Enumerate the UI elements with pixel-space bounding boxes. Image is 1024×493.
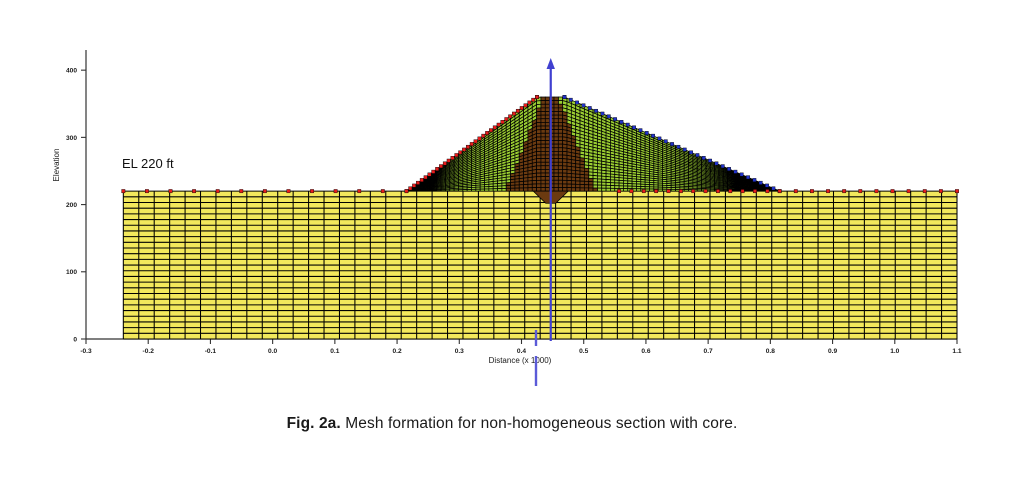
shell-mesh-cell bbox=[502, 188, 506, 191]
downstream-slope-node bbox=[658, 137, 661, 140]
ground-surface-node bbox=[192, 189, 195, 192]
upstream-slope-node bbox=[532, 98, 535, 101]
core-mesh-cell bbox=[541, 115, 545, 119]
core-mesh-cell bbox=[545, 122, 549, 126]
shell-mesh-cell bbox=[697, 190, 701, 191]
core-mesh-cell bbox=[558, 173, 562, 177]
core-mesh-cell bbox=[545, 159, 549, 163]
ground-surface-node bbox=[891, 189, 894, 192]
core-mesh-cell bbox=[554, 133, 558, 137]
caption-label: Fig. 2a. bbox=[287, 415, 341, 432]
core-mesh-cell bbox=[584, 181, 588, 184]
core-mesh-cell bbox=[541, 122, 545, 126]
core-mesh-cell bbox=[537, 166, 541, 170]
core-mesh-cell bbox=[541, 104, 545, 108]
core-mesh-cell bbox=[541, 144, 545, 148]
core-mesh-cell bbox=[593, 188, 597, 191]
core-mesh-cell bbox=[545, 144, 549, 148]
ground-surface-node bbox=[692, 189, 695, 192]
ground-surface-node bbox=[310, 189, 313, 192]
y-tick-label: 200 bbox=[66, 202, 77, 209]
upstream-slope-node bbox=[489, 129, 492, 132]
ground-surface-node bbox=[810, 189, 813, 192]
shell-mesh-cell bbox=[480, 189, 484, 191]
core-mesh-cell bbox=[541, 177, 545, 181]
caption-text: Mesh formation for non-homogeneous secti… bbox=[345, 415, 737, 432]
core-mesh-cell bbox=[545, 137, 549, 141]
figure-container: 0100200300400 -0.3-0.2-0.10.00.10.20.30.… bbox=[0, 0, 1024, 493]
shell-mesh-cell bbox=[428, 190, 432, 191]
upstream-slope-node bbox=[516, 109, 519, 112]
core-mesh-cell bbox=[558, 151, 562, 155]
downstream-slope-node bbox=[594, 109, 597, 112]
core-mesh-cell bbox=[537, 184, 541, 188]
core-mesh-cell bbox=[537, 130, 541, 134]
foundation-mesh-region bbox=[123, 191, 957, 339]
shell-mesh-cell bbox=[745, 191, 749, 192]
core-mesh-cell bbox=[541, 108, 545, 112]
ground-surface-node bbox=[617, 189, 620, 192]
core-mesh-cell bbox=[541, 184, 545, 188]
downstream-slope-node bbox=[683, 148, 686, 151]
core-mesh-cell bbox=[554, 166, 558, 170]
core-mesh-cell bbox=[554, 140, 558, 144]
shell-mesh-cell bbox=[662, 189, 666, 191]
downstream-slope-node bbox=[772, 187, 775, 190]
core-mesh-cell bbox=[524, 188, 528, 191]
core-mesh-cell bbox=[558, 140, 562, 144]
ground-surface-node bbox=[753, 189, 756, 192]
core-mesh-cell bbox=[528, 188, 532, 191]
core-mesh-cell bbox=[554, 180, 558, 184]
downstream-slope-node bbox=[670, 142, 673, 145]
upstream-slope-node bbox=[512, 112, 515, 115]
core-mesh-cell bbox=[541, 151, 545, 155]
shell-mesh-cell bbox=[489, 189, 493, 191]
downstream-slope-node bbox=[740, 173, 743, 176]
core-mesh-cell bbox=[558, 119, 562, 123]
ground-surface-node bbox=[826, 189, 829, 192]
core-mesh-cell bbox=[537, 140, 541, 144]
core-mesh-cell bbox=[558, 108, 562, 112]
downstream-slope-node bbox=[746, 176, 749, 179]
shell-mesh-cell bbox=[710, 190, 714, 191]
shell-mesh-cell bbox=[445, 190, 449, 191]
core-mesh-cell bbox=[554, 184, 558, 188]
ground-surface-node bbox=[716, 189, 719, 192]
ground-surface-node bbox=[939, 189, 942, 192]
shell-mesh-cell bbox=[467, 189, 471, 191]
core-mesh-cell bbox=[537, 148, 541, 152]
core-mesh-cell bbox=[541, 112, 545, 116]
core-mesh-cell bbox=[541, 180, 545, 184]
core-mesh-cell bbox=[554, 115, 558, 119]
core-mesh-cell bbox=[558, 180, 562, 184]
core-mesh-cell bbox=[589, 182, 593, 185]
core-mesh-cell bbox=[506, 188, 510, 191]
core-mesh-cell bbox=[519, 185, 523, 188]
core-mesh-cell bbox=[554, 177, 558, 181]
upstream-slope-node bbox=[501, 120, 504, 123]
shell-mesh-cell bbox=[597, 188, 601, 191]
core-mesh-cell bbox=[558, 155, 562, 159]
downstream-slope-node bbox=[759, 181, 762, 184]
ground-surface-node bbox=[642, 189, 645, 192]
core-mesh-cell bbox=[563, 169, 567, 173]
core-mesh-cell bbox=[537, 169, 541, 173]
shell-mesh-cell bbox=[723, 190, 727, 191]
upstream-slope-node bbox=[462, 148, 465, 151]
shell-mesh-cell bbox=[463, 189, 467, 191]
upstream-slope-node bbox=[409, 187, 412, 190]
downstream-slope-node bbox=[664, 140, 667, 143]
core-mesh-cell bbox=[563, 184, 567, 188]
downstream-slope-node bbox=[639, 129, 642, 132]
core-mesh-cell bbox=[563, 177, 567, 181]
core-mesh-cell bbox=[545, 140, 549, 144]
upstream-slope-node bbox=[420, 178, 423, 181]
core-mesh-cell bbox=[563, 188, 567, 192]
core-mesh-cell bbox=[554, 148, 558, 152]
ground-surface-node bbox=[630, 189, 633, 192]
core-mesh-cell bbox=[567, 188, 571, 192]
core-mesh-cell bbox=[584, 185, 588, 188]
ground-surface-node bbox=[842, 189, 845, 192]
shell-mesh-cell bbox=[498, 188, 502, 191]
core-mesh-cell bbox=[558, 104, 562, 108]
core-mesh-cell bbox=[541, 97, 545, 101]
downstream-slope-node bbox=[689, 151, 692, 154]
shell-mesh-cell bbox=[658, 189, 662, 191]
core-mesh-cell bbox=[545, 112, 549, 116]
upstream-slope-node bbox=[416, 181, 419, 184]
ground-surface-node bbox=[729, 189, 732, 192]
core-mesh-cell bbox=[537, 155, 541, 159]
core-mesh-cell bbox=[554, 108, 558, 112]
core-mesh-cell bbox=[554, 159, 558, 163]
ground-surface-node bbox=[679, 189, 682, 192]
downstream-slope-node bbox=[651, 134, 654, 137]
embankment-shell-mesh-region bbox=[406, 97, 779, 191]
ground-surface-node bbox=[955, 189, 958, 192]
core-mesh-cell bbox=[558, 126, 562, 130]
core-mesh-cell bbox=[554, 101, 558, 105]
core-mesh-cell bbox=[545, 133, 549, 137]
upstream-slope-node bbox=[497, 123, 500, 126]
upstream-slope-node bbox=[474, 140, 477, 143]
core-mesh-cell bbox=[545, 130, 549, 134]
ground-surface-node bbox=[145, 189, 148, 192]
ground-surface-node bbox=[240, 189, 243, 192]
core-mesh-cell bbox=[558, 188, 562, 192]
figure-caption: Fig. 2a. Mesh formation for non-homogene… bbox=[0, 415, 1024, 433]
core-mesh-cell bbox=[511, 188, 515, 191]
y-tick-label: 100 bbox=[66, 269, 77, 276]
upstream-slope-node bbox=[535, 95, 538, 98]
core-mesh-cell bbox=[554, 119, 558, 123]
upstream-slope-node bbox=[455, 153, 458, 156]
upstream-slope-node bbox=[485, 131, 488, 134]
core-mesh-cell bbox=[545, 173, 549, 177]
core-mesh-cell bbox=[576, 188, 580, 191]
shell-mesh-cell bbox=[649, 189, 653, 191]
shell-mesh-cell bbox=[458, 190, 462, 192]
core-mesh-cell bbox=[541, 166, 545, 170]
core-mesh-cell bbox=[545, 184, 549, 188]
core-mesh-cell bbox=[541, 137, 545, 141]
downstream-slope-node bbox=[708, 159, 711, 162]
shell-mesh-cell bbox=[606, 188, 610, 191]
core-mesh-cell bbox=[554, 126, 558, 130]
ground-surface-node bbox=[741, 189, 744, 192]
ground-surface-node bbox=[381, 189, 384, 192]
core-mesh-cell bbox=[584, 188, 588, 191]
downstream-slope-node bbox=[620, 120, 623, 123]
upstream-slope-node bbox=[520, 106, 523, 109]
ground-surface-node bbox=[654, 189, 657, 192]
core-mesh-cell bbox=[541, 169, 545, 173]
core-mesh-cell bbox=[537, 173, 541, 177]
cut-off-text-strip bbox=[0, 484, 1024, 493]
core-mesh-cell bbox=[545, 162, 549, 166]
elevation-annotation: EL 220 ft bbox=[122, 156, 174, 171]
upstream-slope-node bbox=[428, 173, 431, 176]
shell-mesh-cell bbox=[432, 190, 436, 191]
upstream-slope-node bbox=[439, 165, 442, 168]
core-mesh-cell bbox=[554, 112, 558, 116]
core-mesh-cell bbox=[563, 173, 567, 177]
core-mesh-cell bbox=[563, 180, 567, 184]
y-axis-title: Elevation bbox=[52, 149, 61, 182]
shell-mesh-cell bbox=[493, 189, 497, 192]
core-mesh-cell bbox=[541, 101, 545, 105]
core-mesh-cell bbox=[567, 180, 571, 184]
upstream-slope-node bbox=[466, 145, 469, 148]
core-mesh-cell bbox=[589, 188, 593, 191]
upstream-slope-node bbox=[478, 137, 481, 140]
core-mesh-cell bbox=[545, 148, 549, 152]
core-mesh-cell bbox=[537, 188, 541, 192]
upstream-slope-node bbox=[470, 142, 473, 145]
core-mesh-cell bbox=[541, 133, 545, 137]
core-mesh-cell bbox=[541, 126, 545, 130]
core-mesh-cell bbox=[558, 112, 562, 116]
core-mesh-cell bbox=[554, 155, 558, 159]
shell-mesh-cell bbox=[450, 190, 454, 191]
upstream-slope-node bbox=[508, 115, 511, 118]
core-mesh-cell bbox=[554, 162, 558, 166]
downstream-slope-node bbox=[645, 131, 648, 134]
core-mesh-cell bbox=[567, 177, 571, 181]
shell-mesh-cell bbox=[485, 189, 489, 191]
core-mesh-cell bbox=[537, 177, 541, 181]
core-mesh-cell bbox=[545, 169, 549, 173]
shell-mesh-cell bbox=[749, 191, 753, 192]
shell-mesh-cell bbox=[623, 189, 627, 192]
y-tick-label: 400 bbox=[66, 68, 77, 75]
core-mesh-cell bbox=[554, 130, 558, 134]
upstream-slope-node bbox=[447, 159, 450, 162]
shell-mesh-cell bbox=[454, 190, 458, 191]
downstream-slope-node bbox=[734, 170, 737, 173]
core-mesh-cell bbox=[558, 159, 562, 163]
core-mesh-cell bbox=[541, 119, 545, 123]
downstream-slope-node bbox=[582, 104, 585, 107]
core-mesh-cell bbox=[537, 180, 541, 184]
shell-mesh-cell bbox=[424, 191, 428, 192]
downstream-slope-node bbox=[588, 106, 591, 109]
y-axis-ticks: 0100200300400 bbox=[66, 68, 86, 344]
core-mesh-cell bbox=[528, 184, 532, 188]
core-mesh-cell bbox=[545, 115, 549, 119]
ground-surface-node bbox=[778, 189, 781, 192]
core-mesh-cell bbox=[545, 126, 549, 130]
core-mesh-cell bbox=[537, 137, 541, 141]
shell-mesh-cell bbox=[610, 185, 614, 188]
core-mesh-cell bbox=[515, 185, 519, 188]
core-mesh-cell bbox=[554, 97, 558, 101]
core-mesh-cell bbox=[580, 181, 584, 185]
shell-mesh-cell bbox=[684, 190, 688, 192]
core-mesh-cell bbox=[537, 126, 541, 130]
upstream-slope-node bbox=[524, 104, 527, 107]
core-mesh-cell bbox=[558, 184, 562, 188]
shell-mesh-cell bbox=[645, 189, 649, 191]
core-mesh-cell bbox=[545, 166, 549, 170]
shell-mesh-cell bbox=[558, 97, 562, 101]
downstream-slope-node bbox=[765, 184, 768, 187]
core-mesh-cell bbox=[537, 133, 541, 137]
core-mesh-cell bbox=[571, 184, 575, 188]
upstream-slope-node bbox=[482, 134, 485, 137]
core-mesh-cell bbox=[558, 122, 562, 126]
downstream-slope-node bbox=[715, 162, 718, 165]
upstream-slope-node bbox=[459, 151, 462, 154]
core-mesh-cell bbox=[558, 115, 562, 119]
core-mesh-cell bbox=[558, 177, 562, 181]
downstream-slope-node bbox=[613, 117, 616, 120]
shell-mesh-cell bbox=[610, 188, 614, 191]
shell-mesh-cell bbox=[602, 188, 606, 191]
ground-surface-node bbox=[875, 189, 878, 192]
core-mesh-cell bbox=[571, 181, 575, 185]
y-tick-label: 300 bbox=[66, 135, 77, 142]
shell-mesh-cell bbox=[558, 101, 562, 105]
downstream-slope-node bbox=[607, 115, 610, 118]
core-mesh-cell bbox=[541, 148, 545, 152]
downstream-slope-node bbox=[575, 101, 578, 104]
core-mesh-cell bbox=[545, 119, 549, 123]
core-mesh-cell bbox=[554, 104, 558, 108]
ground-surface-node bbox=[358, 189, 361, 192]
core-mesh-cell bbox=[554, 188, 558, 192]
core-mesh-cell bbox=[554, 137, 558, 141]
core-mesh-cell bbox=[537, 122, 541, 126]
core-mesh-cell bbox=[558, 169, 562, 173]
shell-mesh-cell bbox=[602, 185, 606, 188]
ground-surface-node bbox=[794, 189, 797, 192]
core-mesh-cell bbox=[515, 188, 519, 191]
core-mesh-cell bbox=[541, 173, 545, 177]
shell-mesh-cell bbox=[472, 189, 476, 191]
core-mesh-cell bbox=[554, 151, 558, 155]
core-mesh-cell bbox=[545, 177, 549, 181]
core-mesh-cell bbox=[558, 166, 562, 170]
core-mesh-cell bbox=[545, 97, 549, 101]
downstream-slope-node bbox=[677, 145, 680, 148]
core-mesh-cell bbox=[532, 188, 536, 192]
shell-mesh-cell bbox=[593, 185, 597, 188]
core-mesh-cell bbox=[558, 144, 562, 148]
downstream-slope-node bbox=[563, 95, 566, 98]
core-mesh-cell bbox=[554, 169, 558, 173]
ground-surface-node bbox=[859, 189, 862, 192]
core-mesh-cell bbox=[558, 162, 562, 166]
core-mesh-cell bbox=[524, 184, 528, 187]
core-mesh-cell bbox=[545, 104, 549, 108]
shell-mesh-cell bbox=[606, 185, 610, 188]
ground-surface-node bbox=[766, 189, 769, 192]
ground-surface-node bbox=[907, 189, 910, 192]
ground-surface-node bbox=[263, 189, 266, 192]
core-mesh-cell bbox=[576, 184, 580, 188]
upstream-slope-node bbox=[435, 167, 438, 170]
downstream-slope-node bbox=[569, 98, 572, 101]
shell-mesh-cell bbox=[476, 189, 480, 191]
ground-surface-node bbox=[122, 189, 125, 192]
core-mesh-cell bbox=[580, 188, 584, 191]
core-mesh-cell bbox=[532, 184, 536, 188]
ground-surface-node bbox=[704, 189, 707, 192]
ground-surface-node bbox=[287, 189, 290, 192]
shell-mesh-cell bbox=[736, 190, 740, 191]
centerline-lower-extension bbox=[0, 330, 1024, 415]
downstream-slope-node bbox=[753, 178, 756, 181]
core-mesh-cell bbox=[567, 184, 571, 188]
downstream-slope-node bbox=[702, 156, 705, 159]
ground-surface-node bbox=[405, 189, 408, 192]
shell-mesh-cell bbox=[732, 190, 736, 191]
core-mesh-cell bbox=[554, 144, 558, 148]
core-mesh-cell bbox=[545, 180, 549, 184]
upstream-slope-node bbox=[432, 170, 435, 173]
ground-surface-node bbox=[334, 189, 337, 192]
core-mesh-cell bbox=[554, 173, 558, 177]
core-mesh-cell bbox=[558, 133, 562, 137]
core-mesh-cell bbox=[541, 188, 545, 192]
core-mesh-cell bbox=[580, 184, 584, 187]
downstream-slope-node bbox=[632, 126, 635, 129]
core-mesh-cell bbox=[558, 148, 562, 152]
ground-surface-node bbox=[216, 189, 219, 192]
downstream-slope-node bbox=[721, 165, 724, 168]
shell-mesh-cell bbox=[441, 190, 445, 191]
core-mesh-cell bbox=[589, 185, 593, 188]
core-mesh-cell bbox=[545, 188, 549, 192]
upstream-slope-node bbox=[528, 101, 531, 104]
shell-mesh-cell bbox=[636, 189, 640, 191]
shell-mesh-cell bbox=[437, 190, 441, 191]
centerline-arrowhead bbox=[547, 58, 555, 69]
downstream-slope-node bbox=[727, 167, 730, 170]
core-mesh-cell bbox=[541, 162, 545, 166]
core-mesh-cell bbox=[537, 119, 541, 123]
downstream-slope-node bbox=[626, 123, 629, 126]
shell-mesh-cell bbox=[671, 189, 675, 191]
core-mesh-cell bbox=[537, 159, 541, 163]
upstream-slope-node bbox=[505, 117, 508, 120]
core-mesh-cell bbox=[537, 144, 541, 148]
